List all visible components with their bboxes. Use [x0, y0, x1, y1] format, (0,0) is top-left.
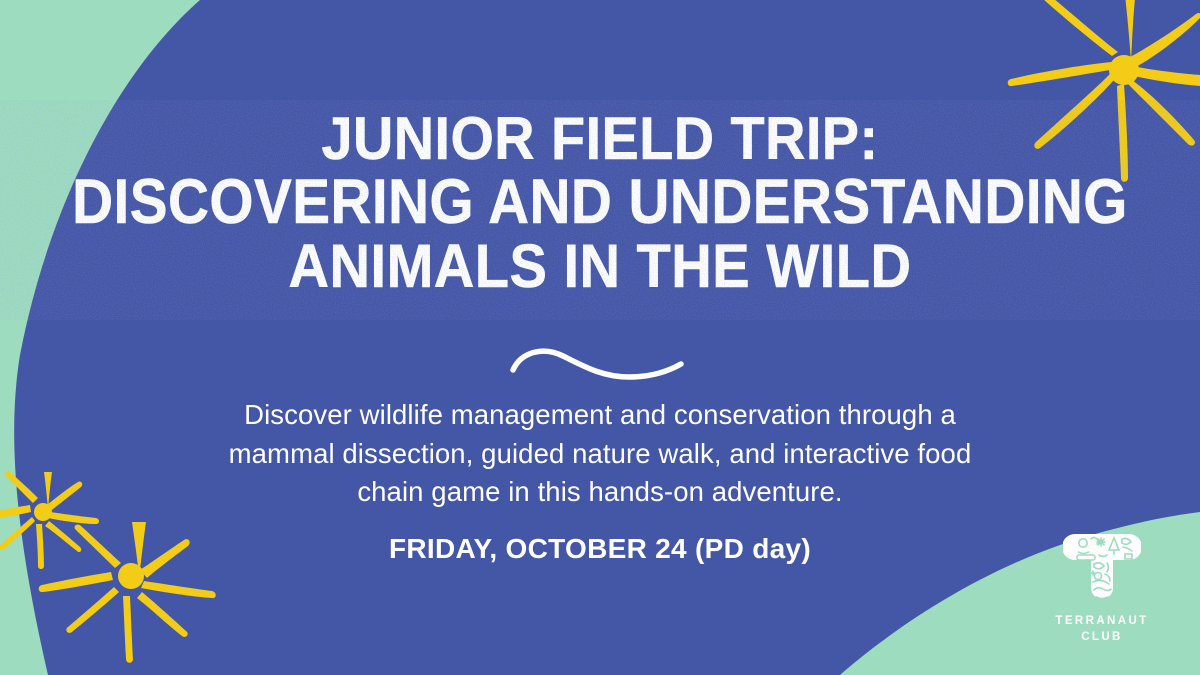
headline-line-1: JUNIOR FIELD TRIP:	[42, 108, 1158, 170]
event-poster: JUNIOR FIELD TRIP: DISCOVERING AND UNDER…	[0, 0, 1200, 675]
description-text: Discover wildlife management and conserv…	[130, 396, 1070, 512]
terranaut-t-monogram-icon	[1063, 530, 1141, 610]
logo-word-line-1: TERRANAUT	[1032, 614, 1172, 630]
page-title: JUNIOR FIELD TRIP: DISCOVERING AND UNDER…	[0, 108, 1200, 298]
headline-block: JUNIOR FIELD TRIP: DISCOVERING AND UNDER…	[0, 0, 1200, 330]
event-date: FRIDAY, OCTOBER 24 (PD day)	[130, 533, 1070, 565]
logo-word-line-2: CLUB	[1032, 630, 1172, 646]
logo-wordmark: TERRANAUT CLUB	[1032, 614, 1172, 645]
wavy-divider-icon	[495, 336, 705, 384]
description-line-1: Discover wildlife management and conserv…	[130, 396, 1070, 435]
description-line-2: mammal dissection, guided nature walk, a…	[130, 435, 1070, 474]
description-line-3: chain game in this hands-on adventure.	[130, 473, 1070, 512]
headline-line-3: ANIMALS IN THE WILD	[48, 235, 1152, 298]
headline-line-2: DISCOVERING AND UNDERSTANDING	[60, 170, 1140, 235]
terranaut-club-logo: TERRANAUT CLUB	[1032, 530, 1172, 650]
